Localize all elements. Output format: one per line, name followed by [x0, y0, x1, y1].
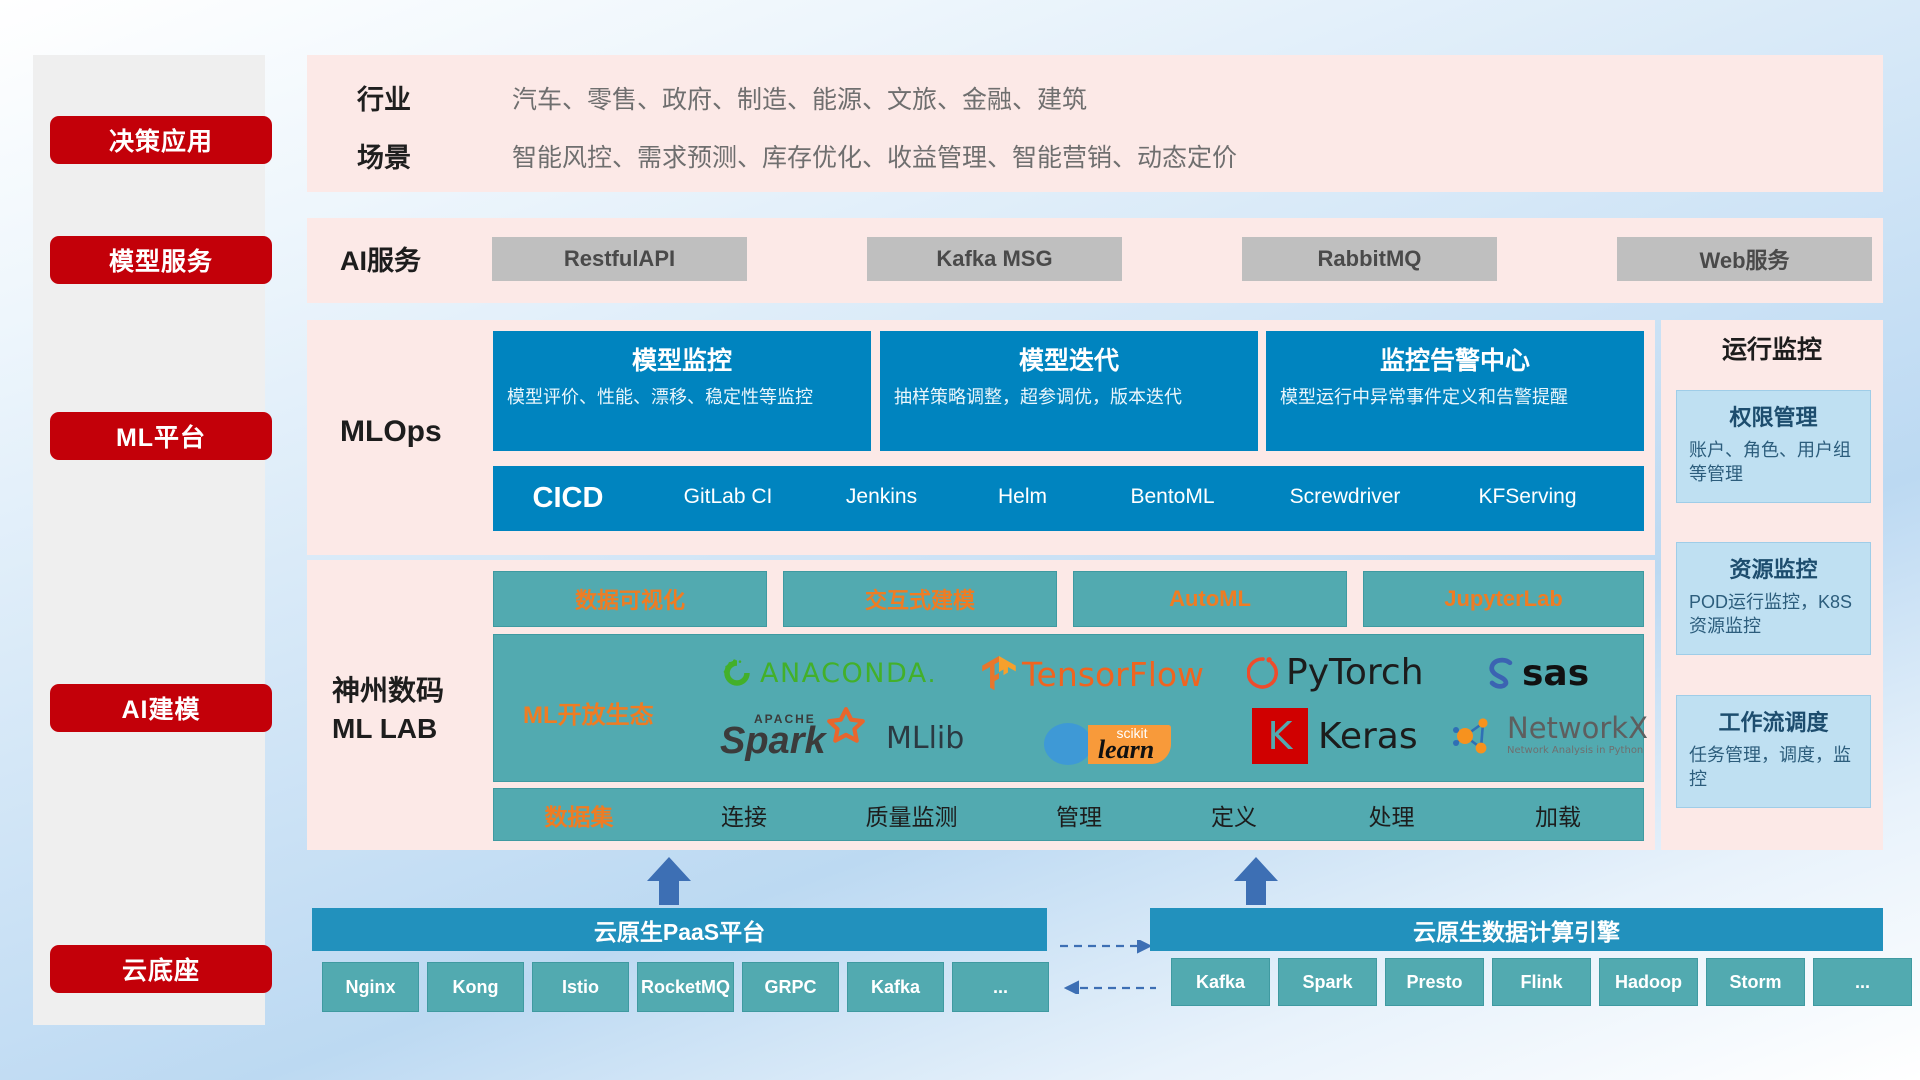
- cloud-chip-hadoop[interactable]: Hadoop: [1599, 958, 1698, 1006]
- ai-service-chip-rabbitmq[interactable]: RabbitMQ: [1242, 237, 1497, 281]
- cloud-chip-label: Spark: [1302, 972, 1352, 993]
- cloud-chip-label: Presto: [1406, 972, 1462, 993]
- ai-service-chip-label: Web服务: [1699, 243, 1789, 275]
- dataset-item-connect[interactable]: 连接: [664, 798, 824, 832]
- mlops-card-title: 模型迭代: [894, 341, 1244, 377]
- monitoring-card-permission[interactable]: 权限管理 账户、角色、用户组等管理: [1676, 390, 1871, 503]
- cloud-chip-istio[interactable]: Istio: [532, 962, 629, 1012]
- mlops-card-alert-center[interactable]: 监控告警中心 模型运行中异常事件定义和告警提醒: [1266, 331, 1644, 451]
- ai-service-chip-label: Kafka MSG: [936, 246, 1052, 272]
- mlops-card-title: 监控告警中心: [1280, 341, 1630, 377]
- ai-tool-automl[interactable]: AutoML: [1073, 571, 1347, 627]
- keras-logo: K Keras: [1252, 708, 1418, 764]
- ai-service-chip-kafka-msg[interactable]: Kafka MSG: [867, 237, 1122, 281]
- ai-modeling-label-line2: ML LAB: [332, 710, 444, 748]
- monitoring-card-workflow[interactable]: 工作流调度 任务管理，调度，监控: [1676, 695, 1871, 808]
- dataset-item-processing[interactable]: 处理: [1309, 798, 1474, 832]
- monitoring-card-title: 工作流调度: [1689, 705, 1858, 737]
- scenario-row-label-industry: 行业: [357, 78, 411, 117]
- sas-logo: sas: [1482, 653, 1589, 694]
- scenario-row-value-industry: 汽车、零售、政府、制造、能源、文旅、金融、建筑: [512, 80, 1087, 116]
- cloud-chip-label: RocketMQ: [641, 977, 730, 998]
- cicd-item-kfserving[interactable]: KFServing: [1440, 466, 1615, 511]
- cloud-chip-label: Storm: [1729, 972, 1781, 993]
- cloud-chip-label: Hadoop: [1615, 972, 1682, 993]
- cloud-chip-kong[interactable]: Kong: [427, 962, 524, 1012]
- ai-tool-label: 交互式建模: [865, 583, 975, 615]
- cloud-paas-bar[interactable]: 云原生PaaS平台: [312, 908, 1047, 951]
- cloud-chip-label: Kafka: [1196, 972, 1245, 993]
- layer-chip-cloudbase[interactable]: 云底座: [50, 945, 272, 993]
- cloud-chip-presto[interactable]: Presto: [1385, 958, 1484, 1006]
- monitoring-card-desc: 账户、角色、用户组等管理: [1689, 439, 1858, 487]
- ai-tool-label: JupyterLab: [1444, 586, 1563, 612]
- mlops-card-desc: 模型运行中异常事件定义和告警提醒: [1280, 386, 1630, 410]
- ai-service-chip-web-service[interactable]: Web服务: [1617, 237, 1872, 281]
- monitoring-card-title: 权限管理: [1689, 400, 1858, 432]
- ai-service-chip-label: RestfulAPI: [564, 246, 675, 272]
- cloud-chip-label: ...: [1855, 972, 1870, 993]
- cicd-head: CICD: [493, 466, 643, 518]
- monitoring-card-desc: POD运行监控，K8S资源监控: [1689, 591, 1858, 639]
- mlops-card-title: 模型监控: [507, 341, 857, 377]
- arrow-up-to-modeling-right: [1232, 857, 1280, 905]
- layer-chip-mlplat[interactable]: ML平台: [50, 412, 272, 460]
- mlops-label: MLOps: [340, 412, 442, 453]
- layer-chip-label: 云底座: [122, 951, 200, 987]
- spark-mllib-logo: APACHE Spark MLlib: [720, 710, 964, 766]
- cloud-data-engine-title: 云原生数据计算引擎: [1413, 913, 1620, 947]
- layer-chip-label: 模型服务: [109, 242, 213, 278]
- layer-rail: [33, 55, 265, 1025]
- layer-chip-label: 决策应用: [109, 122, 213, 158]
- layer-chip-label: AI建模: [121, 690, 200, 726]
- mlops-card-desc: 模型评价、性能、漂移、稳定性等监控: [507, 386, 857, 410]
- ai-modeling-label-line1: 神州数码: [332, 672, 444, 710]
- dataset-item-quality-monitoring[interactable]: 质量监测: [824, 798, 999, 832]
- mlops-card-desc: 抽样策略调整，超参调优，版本迭代: [894, 386, 1244, 410]
- cloud-chip-label: Kong: [453, 977, 499, 998]
- anaconda-logo: ANACONDA .: [720, 656, 935, 690]
- dataset-head: 数据集: [494, 798, 664, 832]
- dataset-bar: 数据集 连接 质量监测 管理 定义 处理 加载: [493, 788, 1644, 841]
- cloud-chip-label: Kafka: [871, 977, 920, 998]
- ai-tool-label: 数据可视化: [575, 583, 685, 615]
- layer-chip-label: ML平台: [116, 418, 206, 454]
- cloud-chip-storm[interactable]: Storm: [1706, 958, 1805, 1006]
- cloud-chip-label: Istio: [562, 977, 599, 998]
- monitoring-card-resource[interactable]: 资源监控 POD运行监控，K8S资源监控: [1676, 542, 1871, 655]
- ai-tool-interactive-modeling[interactable]: 交互式建模: [783, 571, 1057, 627]
- cloud-chip-label: Flink: [1520, 972, 1562, 993]
- cicd-item-screwdriver[interactable]: Screwdriver: [1250, 466, 1440, 511]
- cloud-chip-label: Nginx: [345, 977, 395, 998]
- ai-tool-jupyterlab[interactable]: JupyterLab: [1363, 571, 1644, 627]
- ai-service-chip-restfulapi[interactable]: RestfulAPI: [492, 237, 747, 281]
- bidirectional-dashed-connector: [1058, 940, 1158, 994]
- dataset-item-loading[interactable]: 加载: [1474, 798, 1642, 832]
- dataset-item-management[interactable]: 管理: [999, 798, 1159, 832]
- ml-ecosystem-label: ML开放生态: [523, 695, 654, 730]
- layer-chip-aimodel[interactable]: AI建模: [50, 684, 272, 732]
- cloud-chip-label: GRPC: [764, 977, 816, 998]
- scenario-row-value-usecase: 智能风控、需求预测、库存优化、收益管理、智能营销、动态定价: [512, 138, 1237, 174]
- cicd-bar: CICD GitLab CI Jenkins Helm BentoML Scre…: [493, 466, 1644, 531]
- cloud-chip-nginx[interactable]: Nginx: [322, 962, 419, 1012]
- networkx-logo: NetworkX Network Analysis in Python: [1450, 710, 1648, 760]
- cloud-chip-kafka[interactable]: Kafka: [847, 962, 944, 1012]
- cicd-item-gitlab-ci[interactable]: GitLab CI: [643, 466, 813, 511]
- mlops-card-model-iteration[interactable]: 模型迭代 抽样策略调整，超参调优，版本迭代: [880, 331, 1258, 451]
- monitoring-title: 运行监控: [1661, 330, 1883, 366]
- cloud-chip-more-right[interactable]: ...: [1813, 958, 1912, 1006]
- cloud-chip-kafka-engine[interactable]: Kafka: [1171, 958, 1270, 1006]
- ai-service-label: AI服务: [340, 243, 421, 279]
- scenario-row-label-usecase: 场景: [357, 136, 411, 175]
- dataset-item-definition[interactable]: 定义: [1159, 798, 1309, 832]
- ai-service-chip-label: RabbitMQ: [1318, 246, 1422, 272]
- scikit-learn-logo: scikit learn: [1040, 712, 1188, 766]
- cloud-chip-flink[interactable]: Flink: [1492, 958, 1591, 1006]
- cloud-data-engine-bar[interactable]: 云原生数据计算引擎: [1150, 908, 1883, 951]
- tensorflow-logo: TensorFlow: [982, 655, 1204, 694]
- cicd-item-helm[interactable]: Helm: [950, 466, 1095, 511]
- cicd-item-bentoml[interactable]: BentoML: [1095, 466, 1250, 511]
- cloud-chip-grpc[interactable]: GRPC: [742, 962, 839, 1012]
- layer-chip-decision[interactable]: 决策应用: [50, 116, 272, 164]
- cloud-chip-more-left[interactable]: ...: [952, 962, 1049, 1012]
- ai-tool-data-visualization[interactable]: 数据可视化: [493, 571, 767, 627]
- monitoring-card-desc: 任务管理，调度，监控: [1689, 744, 1858, 792]
- ai-modeling-label: 神州数码 ML LAB: [332, 672, 444, 748]
- cloud-paas-title: 云原生PaaS平台: [594, 913, 765, 947]
- ai-tool-label: AutoML: [1169, 586, 1251, 612]
- layer-chip-modelsvc[interactable]: 模型服务: [50, 236, 272, 284]
- cloud-chip-label: ...: [993, 977, 1008, 998]
- cicd-item-jenkins[interactable]: Jenkins: [813, 466, 950, 511]
- svg-text:learn: learn: [1098, 735, 1154, 764]
- pytorch-logo: PyTorch: [1247, 652, 1424, 693]
- monitoring-card-title: 资源监控: [1689, 552, 1858, 584]
- cloud-chip-rocketmq[interactable]: RocketMQ: [637, 962, 734, 1012]
- arrow-up-to-modeling-left: [645, 857, 693, 905]
- mlops-card-model-monitoring[interactable]: 模型监控 模型评价、性能、漂移、稳定性等监控: [493, 331, 871, 451]
- cloud-chip-spark[interactable]: Spark: [1278, 958, 1377, 1006]
